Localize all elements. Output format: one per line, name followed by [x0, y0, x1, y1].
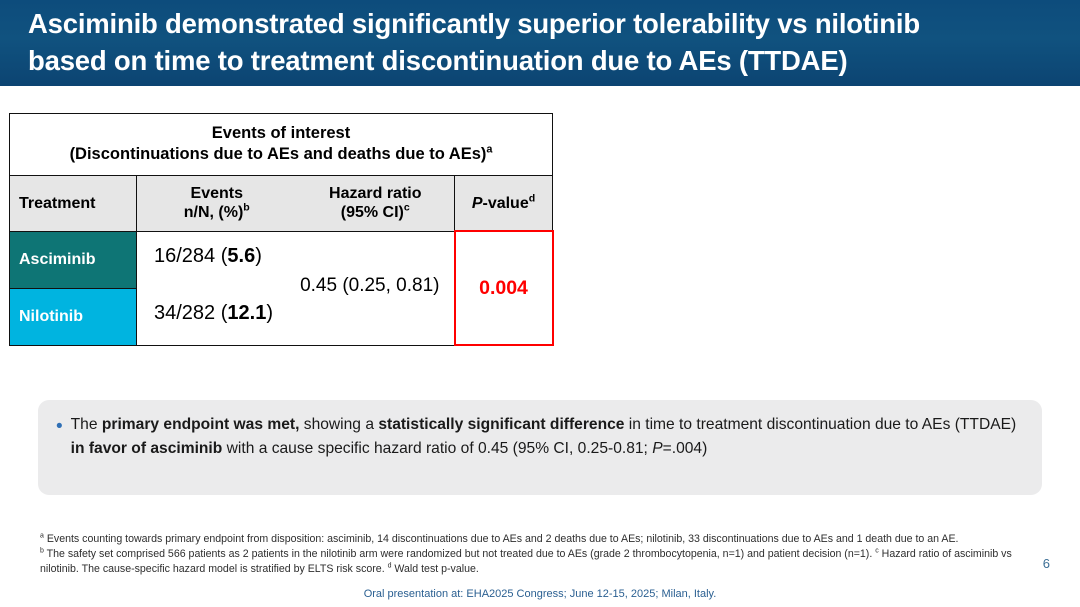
table-column-header-row: Treatment Events n/N, (%)b Hazard ratio …	[10, 176, 553, 231]
treatment-label-nilotinib: Nilotinib	[10, 288, 137, 345]
events-value-asciminib: 16/284 (5.6)	[154, 245, 262, 268]
callout-text: The primary endpoint was met, showing a …	[71, 413, 1020, 495]
hazard-ratio-value: 0.45 (0.25, 0.81)	[300, 275, 439, 297]
events-of-interest-table: Events of interest (Discontinuations due…	[9, 113, 554, 346]
footnote-marker-c: c	[404, 202, 410, 214]
footnote-a-text: Events counting towards primary endpoint…	[44, 533, 959, 545]
span-header-line1: Events of interest	[212, 124, 350, 142]
page-title: Asciminib demonstrated significantly sup…	[28, 6, 920, 79]
conference-citation: Oral presentation at: EHA2025 Congress; …	[0, 588, 1080, 600]
p-value-rest: -value	[482, 195, 528, 212]
footnote-marker-a: a	[486, 144, 492, 156]
events-header-line2: n/N, (%)	[184, 204, 244, 221]
treatment-label-asciminib: Asciminib	[10, 231, 137, 288]
p-value-italic: P	[472, 195, 483, 212]
title-banner: Asciminib demonstrated significantly sup…	[0, 0, 1080, 86]
column-header-p-value: P-valued	[455, 176, 553, 231]
p-value-value: 0.004	[479, 277, 528, 299]
hazard-header-line2: (95% CI)	[341, 204, 404, 221]
hazard-header-line1: Hazard ratio	[329, 185, 421, 202]
p-value-cell: 0.004	[455, 231, 553, 345]
events-value-nilotinib: 34/282 (12.1)	[154, 302, 273, 325]
footnote-marker-b: b	[243, 202, 249, 214]
events-header-line1: Events	[191, 185, 243, 202]
bullet-icon: •	[56, 413, 63, 495]
footnote-marker-d: d	[529, 192, 535, 204]
slide-root: Asciminib demonstrated significantly sup…	[0, 0, 1080, 607]
page-number: 6	[1043, 556, 1050, 571]
column-header-treatment: Treatment	[10, 176, 137, 231]
column-header-events: Events n/N, (%)b	[137, 176, 297, 231]
events-and-hazard-cell: 16/284 (5.6) 34/282 (12.1) 0.45 (0.25, 0…	[137, 231, 455, 345]
footnote-d-text: Wald test p-value.	[391, 563, 478, 575]
footnotes: a Events counting towards primary endpoi…	[40, 532, 1025, 577]
column-header-hazard-ratio: Hazard ratio (95% CI)c	[297, 176, 455, 231]
footnote-b-text: The safety set comprised 566 patients as…	[44, 548, 875, 560]
table-span-header-row: Events of interest (Discontinuations due…	[10, 114, 553, 176]
key-finding-callout: • The primary endpoint was met, showing …	[38, 400, 1042, 495]
table-row-asciminib: Asciminib 16/284 (5.6) 34/282 (12.1) 0.4…	[10, 231, 553, 288]
table-span-header: Events of interest (Discontinuations due…	[10, 114, 553, 176]
span-header-line2: (Discontinuations due to AEs and deaths …	[70, 145, 487, 163]
